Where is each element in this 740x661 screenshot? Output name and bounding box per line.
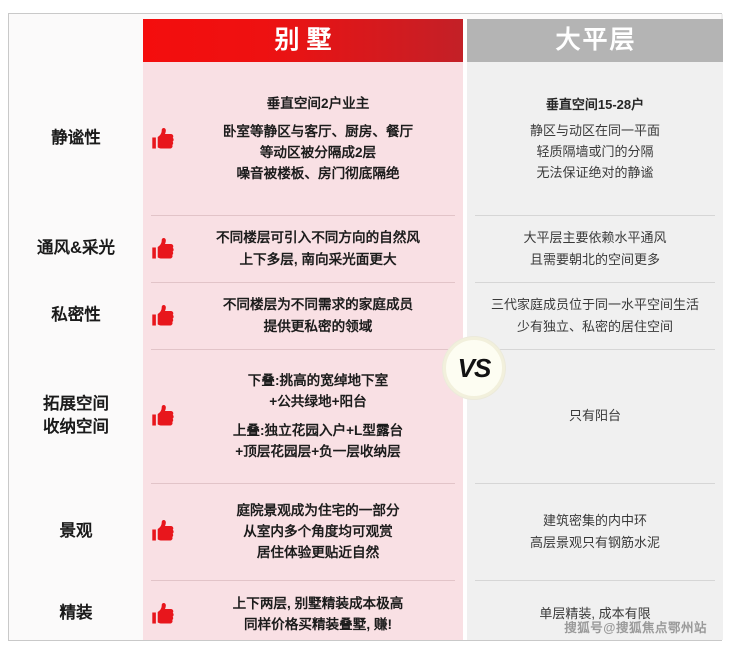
villa-body-text: 庭院景观成为住宅的一部分 从室内多个角度均可观赏 居住体验更贴近自然	[236, 503, 399, 560]
villa-cell-inner: 不同楼层为不同需求的家庭成员 提供更私密的领域	[149, 294, 455, 336]
flat-cell: 三代家庭成员位于同一水平空间生活 少有独立、私密的居住空间	[467, 282, 723, 349]
thumbs-up-icon	[149, 518, 179, 544]
vs-badge: VS	[443, 337, 505, 399]
villa-header-cell: 别墅	[143, 19, 463, 62]
villa-text: 不同楼层为不同需求的家庭成员 提供更私密的领域	[181, 294, 455, 336]
vs-badge-label: VS	[458, 355, 491, 381]
villa-lead-text: 下叠:挑高的宽绰地下室 +公共绿地+阳台	[181, 370, 455, 412]
villa-cell-inner: 下叠:挑高的宽绰地下室 +公共绿地+阳台上叠:独立花园入户+L型露台 +顶层花园…	[149, 370, 455, 462]
villa-text-gap	[181, 114, 455, 121]
villa-cell: 下叠:挑高的宽绰地下室 +公共绿地+阳台上叠:独立花园入户+L型露台 +顶层花园…	[143, 349, 463, 483]
villa-header-title: 别墅	[267, 28, 338, 53]
criterion-cell: 精装	[9, 580, 143, 648]
flat-body-text: 大平层主要依赖水平通风 且需要朝北的空间更多	[523, 230, 666, 266]
table-row: 拓展空间 收纳空间下叠:挑高的宽绰地下室 +公共绿地+阳台上叠:独立花园入户+L…	[9, 349, 721, 483]
criterion-label: 私密性	[51, 304, 101, 327]
table-header-row: 别墅 大平层	[9, 14, 721, 62]
flat-body-text: 静区与动区在同一平面 轻质隔墙或门的分隔 无法保证绝对的静谧	[530, 123, 660, 180]
comparison-table-card: 别墅 大平层 静谧性垂直空间2户业主卧室等静区与客厅、厨房、餐厅 等动区被分隔成…	[8, 13, 722, 641]
villa-cell-inner: 上下两层, 别墅精装成本极高 同样价格买精装叠墅, 赚!	[149, 593, 455, 635]
villa-text: 垂直空间2户业主卧室等静区与客厅、厨房、餐厅 等动区被分隔成2层 噪音被楼板、房…	[181, 93, 455, 185]
villa-body-text: 上下两层, 别墅精装成本极高 同样价格买精装叠墅, 赚!	[233, 596, 404, 632]
flat-cell: 只有阳台	[467, 349, 723, 483]
flat-body-text: 三代家庭成员位于同一水平空间生活 少有独立、私密的居住空间	[491, 297, 699, 333]
villa-cell: 不同楼层为不同需求的家庭成员 提供更私密的领域	[143, 282, 463, 349]
criterion-cell: 私密性	[9, 282, 143, 349]
criterion-cell: 景观	[9, 483, 143, 580]
thumbs-up-icon	[149, 403, 179, 429]
villa-cell: 庭院景观成为住宅的一部分 从室内多个角度均可观赏 居住体验更贴近自然	[143, 483, 463, 580]
table-grid: 别墅 大平层 静谧性垂直空间2户业主卧室等静区与客厅、厨房、餐厅 等动区被分隔成…	[9, 14, 721, 640]
thumbs-up-icon	[149, 601, 179, 627]
criterion-cell: 通风&采光	[9, 215, 143, 282]
flat-body-text: 只有阳台	[569, 408, 621, 423]
villa-lead-text: 垂直空间2户业主	[181, 93, 455, 114]
criterion-label: 拓展空间 收纳空间	[43, 393, 109, 440]
criterion-cell: 拓展空间 收纳空间	[9, 349, 143, 483]
flat-cell: 建筑密集的内中环 高层景观只有钢筋水泥	[467, 483, 723, 580]
villa-cell: 不同楼层可引入不同方向的自然风 上下多层, 南向采光面更大	[143, 215, 463, 282]
criterion-label: 静谧性	[51, 127, 101, 150]
flat-text: 只有阳台	[477, 405, 713, 426]
villa-cell-inner: 庭院景观成为住宅的一部分 从室内多个角度均可观赏 居住体验更贴近自然	[149, 500, 455, 564]
criterion-cell: 静谧性	[9, 62, 143, 215]
table-row: 精装上下两层, 别墅精装成本极高 同样价格买精装叠墅, 赚!单层精装, 成本有限	[9, 580, 721, 648]
villa-text: 不同楼层可引入不同方向的自然风 上下多层, 南向采光面更大	[181, 227, 455, 269]
flat-cell: 垂直空间15-28户静区与动区在同一平面 轻质隔墙或门的分隔 无法保证绝对的静谧	[467, 62, 723, 215]
flat-header-title: 大平层	[553, 28, 636, 53]
villa-cell: 垂直空间2户业主卧室等静区与客厅、厨房、餐厅 等动区被分隔成2层 噪音被楼板、房…	[143, 62, 463, 215]
villa-cell-inner: 不同楼层可引入不同方向的自然风 上下多层, 南向采光面更大	[149, 227, 455, 269]
villa-text: 下叠:挑高的宽绰地下室 +公共绿地+阳台上叠:独立花园入户+L型露台 +顶层花园…	[181, 370, 455, 462]
villa-body-text: 不同楼层为不同需求的家庭成员 提供更私密的领域	[223, 297, 413, 333]
flat-lead-text: 垂直空间15-28户	[477, 94, 713, 115]
villa-body-text: 不同楼层可引入不同方向的自然风 上下多层, 南向采光面更大	[216, 230, 420, 266]
flat-cell: 单层精装, 成本有限	[467, 580, 723, 648]
villa-text: 庭院景观成为住宅的一部分 从室内多个角度均可观赏 居住体验更贴近自然	[181, 500, 455, 564]
table-body: 静谧性垂直空间2户业主卧室等静区与客厅、厨房、餐厅 等动区被分隔成2层 噪音被楼…	[9, 62, 721, 640]
thumbs-up-icon	[149, 303, 179, 329]
table-row: 私密性不同楼层为不同需求的家庭成员 提供更私密的领域三代家庭成员位于同一水平空间…	[9, 282, 721, 349]
villa-body-text: 卧室等静区与客厅、厨房、餐厅 等动区被分隔成2层 噪音被楼板、房门彻底隔绝	[223, 124, 413, 181]
flat-text: 垂直空间15-28户静区与动区在同一平面 轻质隔墙或门的分隔 无法保证绝对的静谧	[477, 94, 713, 183]
flat-cell: 大平层主要依赖水平通风 且需要朝北的空间更多	[467, 215, 723, 282]
criterion-label: 通风&采光	[37, 237, 115, 260]
villa-cell: 上下两层, 别墅精装成本极高 同样价格买精装叠墅, 赚!	[143, 580, 463, 648]
flat-header-cell: 大平层	[467, 19, 723, 62]
criterion-label: 精装	[60, 602, 93, 625]
villa-body-text: 上叠:独立花园入户+L型露台 +顶层花园层+负一层收纳层	[233, 423, 403, 459]
flat-body-text: 建筑密集的内中环 高层景观只有钢筋水泥	[530, 513, 660, 549]
villa-cell-inner: 垂直空间2户业主卧室等静区与客厅、厨房、餐厅 等动区被分隔成2层 噪音被楼板、房…	[149, 93, 455, 185]
villa-text-gap	[181, 413, 455, 420]
flat-text: 建筑密集的内中环 高层景观只有钢筋水泥	[477, 510, 713, 552]
thumbs-up-icon	[149, 236, 179, 262]
thumbs-up-icon	[149, 126, 179, 152]
table-row: 通风&采光不同楼层可引入不同方向的自然风 上下多层, 南向采光面更大大平层主要依…	[9, 215, 721, 282]
watermark-text: 搜狐号@搜狐焦点鄂州站	[564, 617, 707, 636]
flat-text: 大平层主要依赖水平通风 且需要朝北的空间更多	[477, 227, 713, 269]
villa-text: 上下两层, 别墅精装成本极高 同样价格买精装叠墅, 赚!	[181, 593, 455, 635]
table-row: 静谧性垂直空间2户业主卧室等静区与客厅、厨房、餐厅 等动区被分隔成2层 噪音被楼…	[9, 62, 721, 215]
flat-text: 三代家庭成员位于同一水平空间生活 少有独立、私密的居住空间	[477, 294, 713, 336]
table-row: 景观庭院景观成为住宅的一部分 从室内多个角度均可观赏 居住体验更贴近自然建筑密集…	[9, 483, 721, 580]
criterion-label: 景观	[60, 520, 93, 543]
